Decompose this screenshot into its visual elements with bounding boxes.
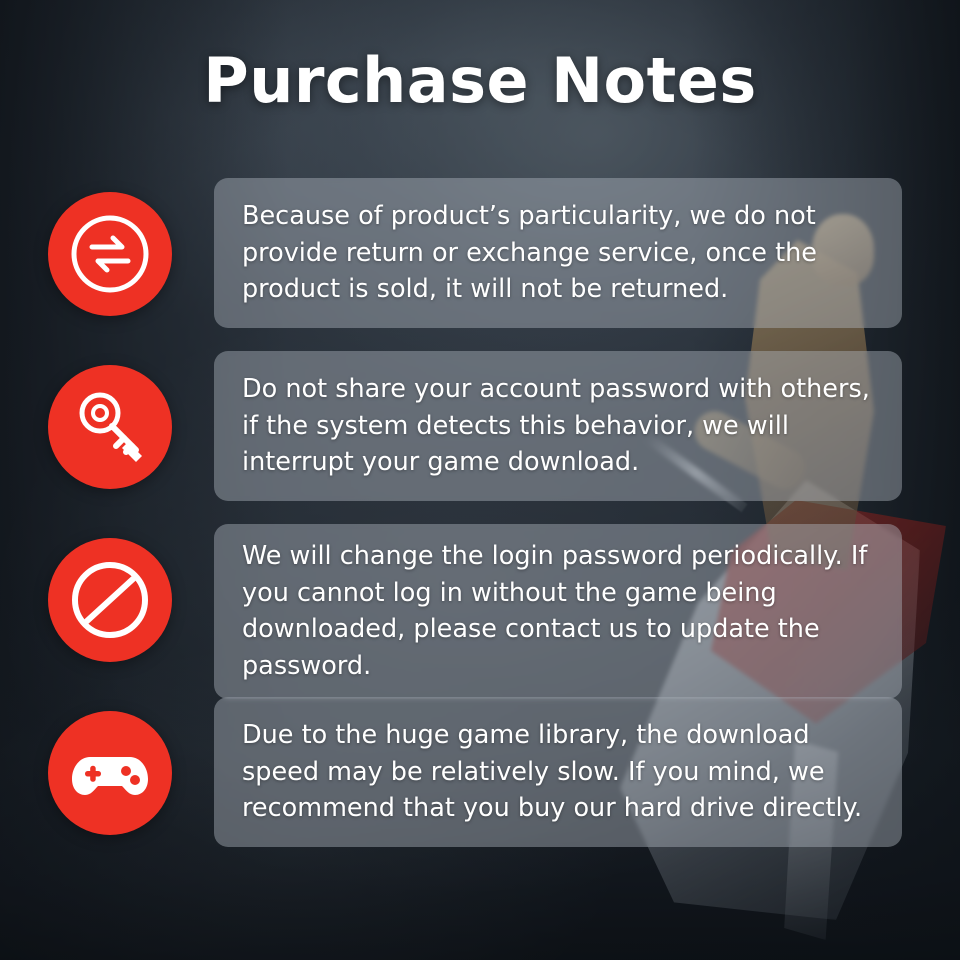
page-title: Purchase Notes — [0, 44, 960, 117]
note-text: We will change the login password period… — [242, 538, 876, 685]
list-item: Due to the huge game library, the downlo… — [0, 697, 960, 853]
note-icon-badge — [48, 711, 172, 835]
note-text: Due to the huge game library, the downlo… — [242, 717, 876, 827]
note-text: Do not share your account password with … — [242, 371, 876, 481]
content-area: Purchase Notes Because of product’s part… — [0, 0, 960, 960]
gamepad-icon — [66, 729, 154, 817]
key-icon — [66, 383, 154, 471]
purchase-notes-page: Purchase Notes Because of product’s part… — [0, 0, 960, 960]
list-item: Do not share your account password with … — [0, 351, 960, 507]
note-card: Because of product’s particularity, we d… — [214, 178, 902, 328]
list-item: Because of product’s particularity, we d… — [0, 178, 960, 334]
note-text: Because of product’s particularity, we d… — [242, 198, 876, 308]
note-icon-badge — [48, 192, 172, 316]
no-entry-icon — [66, 556, 154, 644]
exchange-arrows-icon — [66, 210, 154, 298]
list-item: We will change the login password period… — [0, 524, 960, 680]
note-icon-badge — [48, 538, 172, 662]
notes-list: Because of product’s particularity, we d… — [0, 178, 960, 870]
note-card: Due to the huge game library, the downlo… — [214, 697, 902, 847]
note-icon-badge — [48, 365, 172, 489]
note-card: Do not share your account password with … — [214, 351, 902, 501]
note-card: We will change the login password period… — [214, 524, 902, 699]
